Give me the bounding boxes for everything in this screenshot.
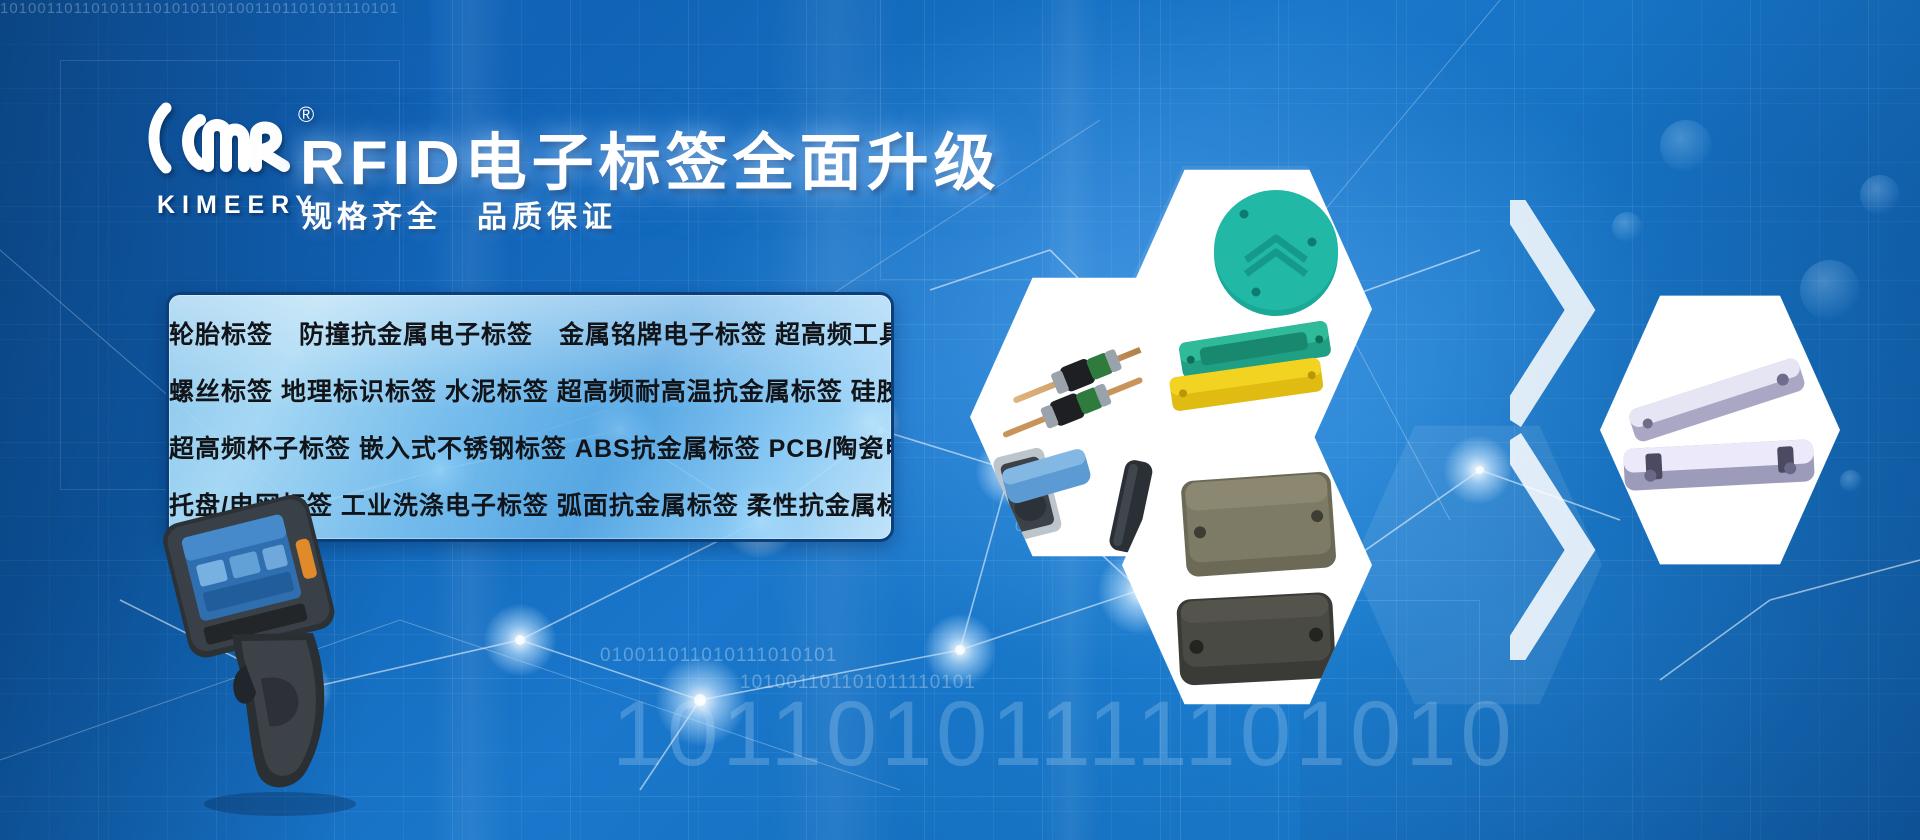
tag-list-row: 螺丝标签 地理标识标签 水泥标签 超高频耐高温抗金属标签 硅胶腕带	[169, 364, 891, 421]
handheld-rfid-reader	[150, 490, 380, 820]
tag-list-row: 轮胎标签 防撞抗金属电子标签 金属铭牌电子标签 超高频工具标签	[169, 307, 891, 364]
rfid-promo-banner: 10110101111101010 010011011010111010101 …	[0, 0, 1920, 840]
handheld-reader-image	[150, 490, 380, 820]
chevron-arrow-decor	[1510, 200, 1630, 660]
page-title: RFID电子标签全面升级	[300, 112, 1001, 202]
page-subtitle: 规格齐全 品质保证	[302, 192, 617, 236]
tag-list-row: 超高频杯子标签 嵌入式不锈钢标签 ABS抗金属标签 PCB/陶瓷电子标签	[169, 421, 891, 478]
